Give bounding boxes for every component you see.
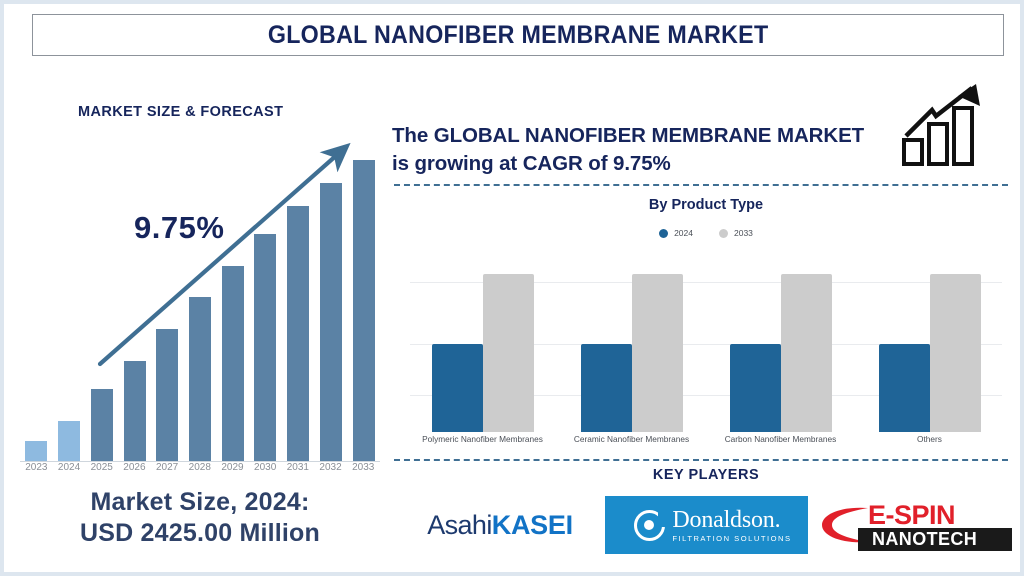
legend-swatch-icon (659, 229, 668, 238)
market-size-bar (254, 234, 276, 461)
category-tick-label: Ceramic Nanofiber Membranes (559, 434, 704, 444)
right-panel: The GLOBAL NANOFIBER MEMBRANE MARKET is … (392, 62, 1020, 572)
espin-tagline: NANOTECH (872, 529, 977, 550)
year-tick-label: 2025 (85, 462, 118, 473)
year-tick-label: 2026 (118, 462, 151, 473)
market-size-bar (91, 389, 113, 461)
year-tick-label: 2033 (347, 462, 380, 473)
by-product-type-title: By Product Type (392, 197, 1020, 213)
category-tick-label: Polymeric Nanofiber Membranes (410, 434, 555, 444)
by-product-type-category-axis: Polymeric Nanofiber MembranesCeramic Nan… (410, 434, 1002, 444)
logo-asahi-kasei: AsahiKASEI (404, 496, 596, 554)
product-type-bar (483, 274, 534, 432)
year-tick-label: 2030 (249, 462, 282, 473)
kasei-word: KASEI (492, 510, 573, 540)
espin-word: E-SPIN (868, 500, 955, 531)
product-type-bar (432, 344, 483, 432)
market-size-value: Market Size, 2024: USD 2425.00 Million (4, 487, 396, 550)
product-type-bar (930, 274, 981, 432)
logo-espin-nanotech: E-SPIN NANOTECH (816, 496, 1012, 554)
product-type-bar (581, 344, 632, 432)
headline-line-1: The GLOBAL NANOFIBER MEMBRANE MARKET (392, 122, 912, 150)
product-type-bar (879, 344, 930, 432)
legend-label: 2024 (674, 228, 693, 238)
cagr-headline: The GLOBAL NANOFIBER MEMBRANE MARKET is … (392, 122, 912, 179)
market-size-bar (189, 297, 211, 461)
bar-group (708, 262, 853, 432)
market-size-bar (222, 266, 244, 461)
product-type-bar (781, 274, 832, 432)
year-tick-label: 2029 (216, 462, 249, 473)
product-type-bar (632, 274, 683, 432)
title-box: GLOBAL NANOFIBER MEMBRANE MARKET (32, 14, 1004, 56)
key-players-logos: AsahiKASEI Donaldson. FILTRATION SOLUTIO… (404, 490, 1012, 560)
market-size-bar-chart (20, 132, 380, 462)
chart-legend: 20242033 (392, 228, 1020, 238)
donaldson-word: Donaldson. (672, 508, 791, 532)
category-tick-label: Carbon Nanofiber Membranes (708, 434, 853, 444)
divider-bottom (394, 459, 1008, 461)
bar-group (559, 262, 704, 432)
market-size-line-1: Market Size, 2024: (4, 487, 396, 518)
donaldson-mark-icon (634, 510, 665, 541)
market-size-bar (58, 421, 80, 461)
year-tick-label: 2027 (151, 462, 184, 473)
bar-group (857, 262, 1002, 432)
market-size-bar (156, 329, 178, 461)
market-size-bar (287, 206, 309, 461)
legend-swatch-icon (719, 229, 728, 238)
key-players-title: KEY PLAYERS (392, 467, 1020, 483)
year-tick-label: 2028 (183, 462, 216, 473)
year-tick-label: 2024 (53, 462, 86, 473)
market-size-bar (124, 361, 146, 461)
infographic-canvas: GLOBAL NANOFIBER MEMBRANE MARKET MARKET … (4, 4, 1020, 572)
donaldson-tagline: FILTRATION SOLUTIONS (672, 535, 791, 543)
divider-top (394, 184, 1008, 186)
product-type-bar (730, 344, 781, 432)
headline-line-2: is growing at CAGR of 9.75% (392, 150, 912, 178)
market-size-forecast-label: MARKET SIZE & FORECAST (78, 104, 283, 120)
market-size-bar (353, 160, 375, 461)
by-product-type-bar-chart (410, 262, 1002, 432)
market-size-line-2: USD 2425.00 Million (4, 518, 396, 549)
category-tick-label: Others (857, 434, 1002, 444)
year-tick-label: 2023 (20, 462, 53, 473)
page-title: GLOBAL NANOFIBER MEMBRANE MARKET (268, 21, 769, 50)
legend-item: 2024 (659, 228, 693, 238)
market-size-bar (25, 441, 47, 461)
market-size-forecast-panel: MARKET SIZE & FORECAST 9.75% 20232024202… (4, 62, 396, 572)
asahi-word: Asahi (427, 510, 492, 540)
year-tick-label: 2032 (314, 462, 347, 473)
legend-item: 2033 (719, 228, 753, 238)
legend-label: 2033 (734, 228, 753, 238)
bar-chart-growth-icon (900, 82, 990, 168)
year-tick-label: 2031 (282, 462, 315, 473)
bar-group (410, 262, 555, 432)
logo-donaldson: Donaldson. FILTRATION SOLUTIONS (605, 496, 808, 554)
market-size-bar (320, 183, 342, 461)
market-size-year-axis: 2023202420252026202720282029203020312032… (20, 462, 380, 473)
